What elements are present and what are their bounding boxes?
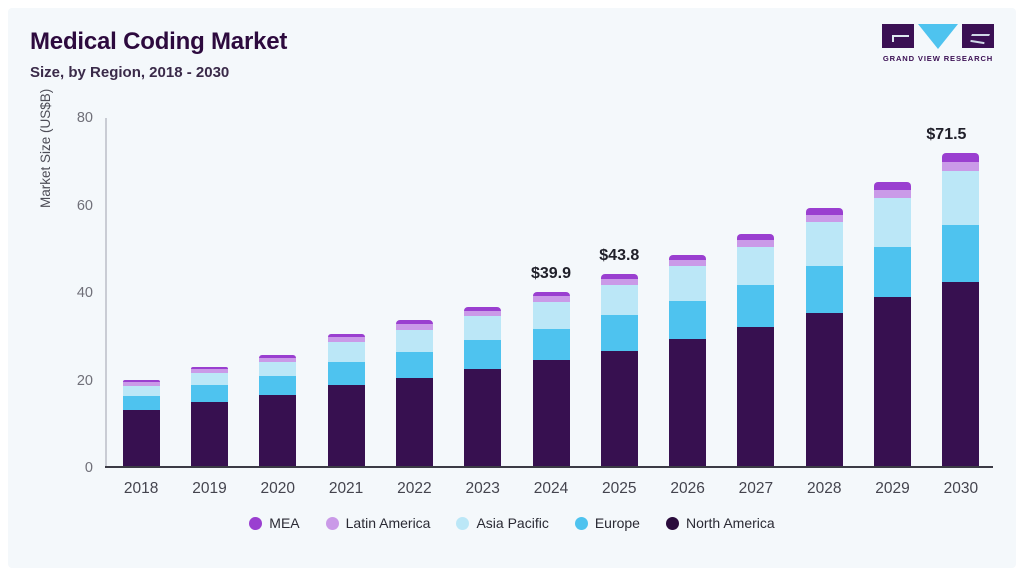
bar-segment[interactable] xyxy=(396,330,433,352)
brand-logo: GRAND VIEW RESEARCH xyxy=(882,24,994,68)
bar-group[interactable]: 2027 xyxy=(737,234,774,466)
bar-segment[interactable] xyxy=(737,247,774,285)
grand-view-g-icon xyxy=(892,35,909,42)
page-subtitle: Size, by Region, 2018 - 2030 xyxy=(30,64,229,81)
bar-segment[interactable] xyxy=(328,385,365,466)
bar-series-container: 201820192020202120222023$39.92024$43.820… xyxy=(107,118,993,466)
bar-group[interactable]: 2021 xyxy=(328,334,365,466)
legend-swatch-icon xyxy=(249,517,262,530)
page-title: Medical Coding Market xyxy=(30,28,287,56)
bar-segment[interactable] xyxy=(328,342,365,362)
legend-item[interactable]: MEA xyxy=(249,515,299,531)
legend-swatch-icon xyxy=(456,517,469,530)
bar-group[interactable]: 2023 xyxy=(464,307,501,466)
bar-segment[interactable] xyxy=(533,329,570,360)
bar-segment[interactable] xyxy=(874,190,911,198)
bar-total-label: $71.5 xyxy=(926,126,966,144)
x-axis-tick-label: 2024 xyxy=(534,480,568,498)
legend-item[interactable]: Asia Pacific xyxy=(456,515,548,531)
bar-segment[interactable] xyxy=(737,285,774,327)
x-axis-tick-label: 2027 xyxy=(739,480,773,498)
bar-segment[interactable] xyxy=(669,266,706,301)
x-axis-tick-label: 2030 xyxy=(944,480,978,498)
legend-item-label: Asia Pacific xyxy=(476,515,548,531)
plot-area: 020406080 201820192020202120222023$39.92… xyxy=(105,118,993,468)
legend-item[interactable]: Latin America xyxy=(326,515,431,531)
y-axis-tick-label: 20 xyxy=(77,373,93,389)
bar-group[interactable]: 2020 xyxy=(259,355,296,466)
y-axis-tick-label: 40 xyxy=(77,285,93,301)
bar-group[interactable]: 2018 xyxy=(123,380,160,466)
bar-segment[interactable] xyxy=(874,198,911,247)
y-axis-title: Market Size (US$B) xyxy=(38,89,53,208)
bar-total-label: $39.9 xyxy=(531,265,571,283)
x-axis-tick-label: 2021 xyxy=(329,480,363,498)
bar-segment[interactable] xyxy=(396,352,433,378)
grand-view-triangle-icon xyxy=(918,24,958,49)
legend-item-label: MEA xyxy=(269,515,299,531)
logo-mark xyxy=(882,24,994,50)
bar-segment[interactable] xyxy=(601,351,638,467)
x-axis-tick-label: 2025 xyxy=(602,480,636,498)
legend-item[interactable]: Europe xyxy=(575,515,640,531)
chart-canvas: Medical Coding Market Size, by Region, 2… xyxy=(8,8,1016,568)
bar-group[interactable]: 2022 xyxy=(396,320,433,466)
bar-segment[interactable] xyxy=(533,360,570,466)
x-axis-tick-label: 2029 xyxy=(875,480,909,498)
bar-group[interactable]: $43.82025 xyxy=(601,274,638,466)
x-axis-line xyxy=(105,466,993,468)
x-axis-tick-label: 2026 xyxy=(670,480,704,498)
y-axis-tick-label: 60 xyxy=(77,198,93,214)
bar-segment[interactable] xyxy=(259,362,296,376)
bar-segment[interactable] xyxy=(806,208,843,215)
bar-segment[interactable] xyxy=(191,385,228,402)
bar-segment[interactable] xyxy=(191,402,228,466)
bar-segment[interactable] xyxy=(874,297,911,466)
legend-swatch-icon xyxy=(326,517,339,530)
bar-group[interactable]: 2028 xyxy=(806,208,843,466)
legend-item-label: Europe xyxy=(595,515,640,531)
bar-segment[interactable] xyxy=(942,282,979,466)
x-axis-tick-label: 2022 xyxy=(397,480,431,498)
bar-group[interactable]: $39.92024 xyxy=(533,292,570,466)
bar-segment[interactable] xyxy=(942,171,979,226)
bar-segment[interactable] xyxy=(123,396,160,411)
legend-swatch-icon xyxy=(666,517,679,530)
bar-segment[interactable] xyxy=(669,339,706,466)
bar-total-label: $43.8 xyxy=(599,247,639,265)
bar-segment[interactable] xyxy=(328,362,365,385)
bar-group[interactable]: 2019 xyxy=(191,367,228,466)
x-axis-tick-label: 2019 xyxy=(192,480,226,498)
bar-segment[interactable] xyxy=(806,313,843,466)
legend-item[interactable]: North America xyxy=(666,515,775,531)
bar-segment[interactable] xyxy=(464,316,501,341)
bar-segment[interactable] xyxy=(259,395,296,466)
bar-segment[interactable] xyxy=(942,225,979,282)
bar-segment[interactable] xyxy=(806,215,843,222)
bar-segment[interactable] xyxy=(942,162,979,171)
bar-group[interactable]: $71.52030 xyxy=(942,153,979,466)
bar-segment[interactable] xyxy=(396,378,433,466)
bar-group[interactable]: 2026 xyxy=(669,255,706,466)
bar-segment[interactable] xyxy=(601,315,638,351)
bar-segment[interactable] xyxy=(123,386,160,396)
legend-item-label: North America xyxy=(686,515,775,531)
bar-segment[interactable] xyxy=(806,266,843,313)
chart-screenshot: Medical Coding Market Size, by Region, 2… xyxy=(0,0,1024,576)
legend-item-label: Latin America xyxy=(346,515,431,531)
bar-segment[interactable] xyxy=(601,285,638,315)
legend-swatch-icon xyxy=(575,517,588,530)
bar-segment[interactable] xyxy=(464,369,501,466)
chart-legend: MEALatin AmericaAsia PacificEuropeNorth … xyxy=(8,515,1016,531)
x-axis-tick-label: 2020 xyxy=(261,480,295,498)
y-axis-tick-label: 0 xyxy=(85,460,93,476)
y-axis-tick-label: 80 xyxy=(77,110,93,126)
x-axis-tick-label: 2028 xyxy=(807,480,841,498)
bar-segment[interactable] xyxy=(259,376,296,395)
bar-segment[interactable] xyxy=(874,247,911,297)
bar-segment[interactable] xyxy=(191,373,228,385)
logo-wordmark: GRAND VIEW RESEARCH xyxy=(882,54,994,63)
x-axis-tick-label: 2018 xyxy=(124,480,158,498)
bar-segment[interactable] xyxy=(123,410,160,466)
bar-segment[interactable] xyxy=(874,182,911,189)
bar-segment[interactable] xyxy=(464,340,501,368)
bar-segment[interactable] xyxy=(533,302,570,329)
bar-segment[interactable] xyxy=(942,153,979,161)
bar-group[interactable]: 2029 xyxy=(874,182,911,466)
bar-segment[interactable] xyxy=(737,240,774,247)
bar-segment[interactable] xyxy=(737,327,774,466)
bar-segment[interactable] xyxy=(669,301,706,339)
x-axis-tick-label: 2023 xyxy=(465,480,499,498)
bar-segment[interactable] xyxy=(806,222,843,266)
